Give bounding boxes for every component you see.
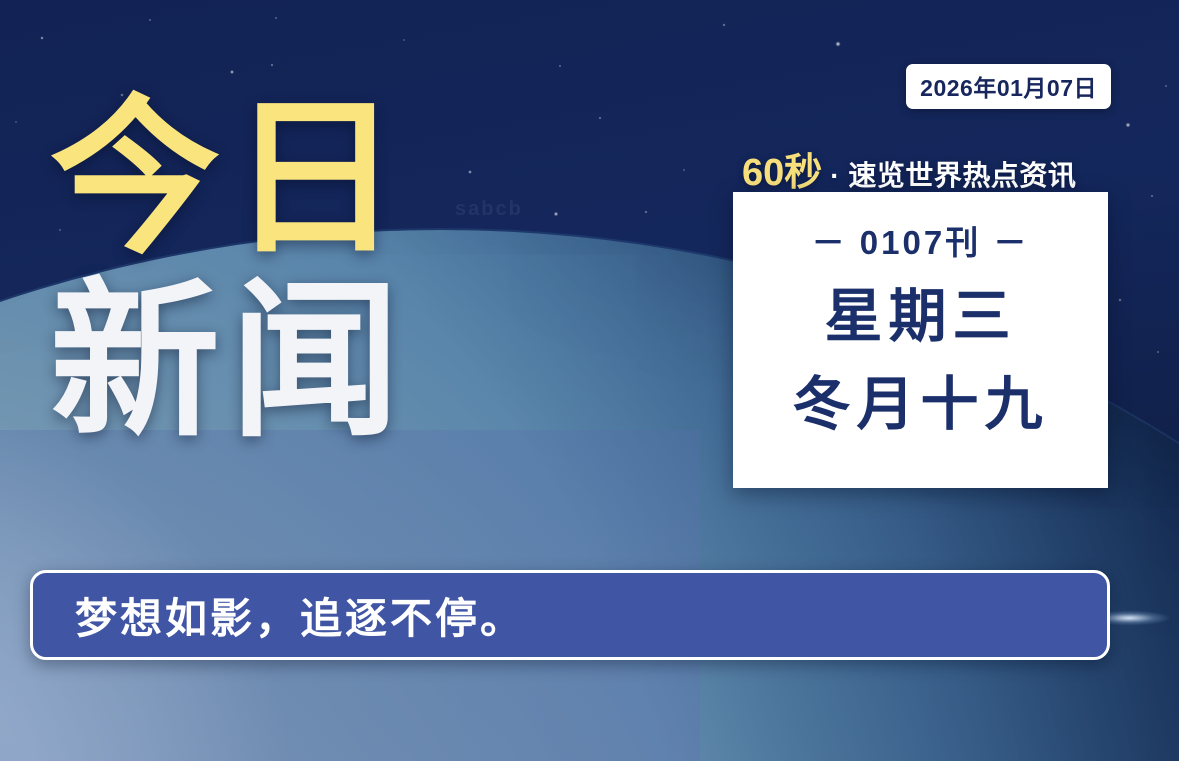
watermark-text: sabcb	[455, 198, 523, 221]
tagline-highlight: 60秒	[742, 141, 822, 196]
tagline: 60秒 · 速览世界热点资讯	[742, 141, 1076, 196]
issue-card: － 0107刊 － 星期三 冬月十九	[733, 192, 1108, 488]
issue-number: － 0107刊 －	[812, 216, 1030, 264]
weekday: 星期三	[824, 288, 1016, 346]
lunar-date: 冬月十九	[792, 376, 1048, 434]
news-poster: sabcb 今日 新闻 2026年01月07日 60秒 · 速览世界热点资讯 －…	[0, 0, 1179, 761]
masthead-line-today: 今日	[50, 98, 410, 261]
tagline-rest: · 速览世界热点资讯	[830, 154, 1076, 194]
masthead: 今日 新闻	[50, 98, 410, 444]
slogan-text: 梦想如影，追逐不停。	[75, 585, 525, 646]
slogan-banner: 梦想如影，追逐不停。	[30, 570, 1110, 660]
date-badge: 2026年01月07日	[906, 64, 1111, 109]
masthead-line-news: 新闻	[50, 281, 410, 444]
